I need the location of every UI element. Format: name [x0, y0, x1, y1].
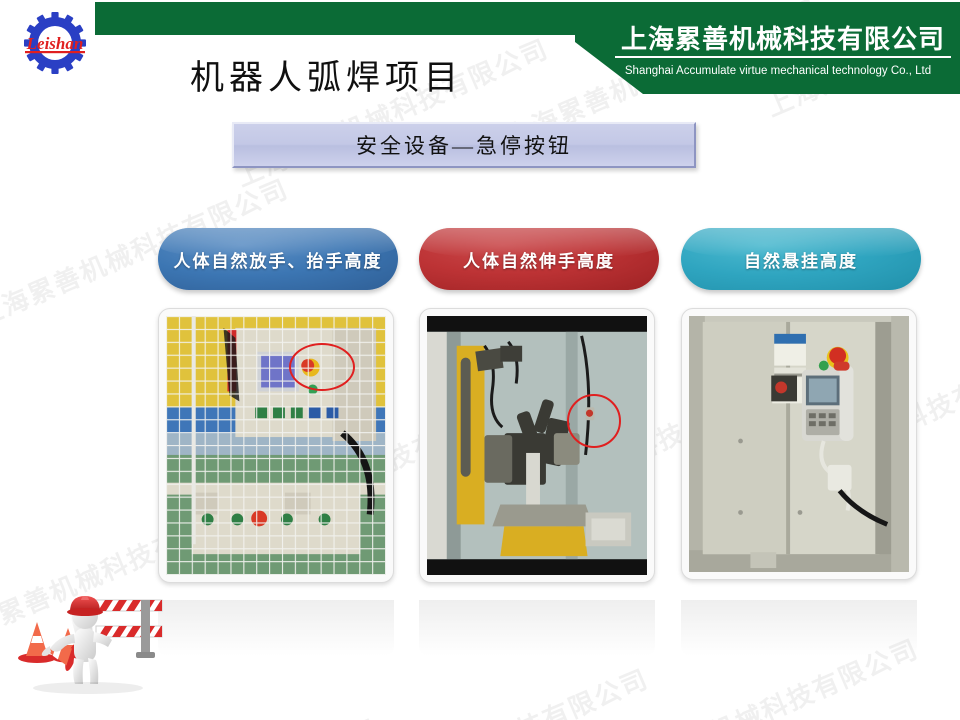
gear-logo-icon: Leishan — [14, 12, 96, 78]
watermark-text: 上海累善机械科技有限公司 — [230, 29, 554, 194]
label-pill-b-text: 人体自然伸手高度 — [463, 247, 615, 272]
content-column-b: 人体自然伸手高度 — [419, 228, 659, 583]
barrier-icon — [96, 600, 162, 658]
logo-wordmark: Leishan — [26, 34, 84, 53]
header-green-block: 上海累善机械科技有限公司 Shanghai Accumulate virtue … — [555, 2, 960, 94]
label-pill-b[interactable]: 人体自然伸手高度 — [419, 228, 659, 290]
photo-frame-b[interactable] — [419, 308, 655, 583]
photo-reflection-b — [419, 600, 655, 656]
photo-frame-c[interactable] — [681, 308, 917, 580]
watermark-text: 上海累善机械科技有限公司 — [330, 659, 654, 720]
label-pill-c-text: 自然悬挂高度 — [744, 247, 858, 272]
photo-b — [427, 316, 647, 575]
photo-frame-a[interactable] — [158, 308, 394, 583]
content-column-c: 自然悬挂高度 — [681, 228, 921, 580]
page-title: 机器人弧焊项目 — [190, 58, 463, 100]
company-name-en: Shanghai Accumulate virtue mechanical te… — [603, 64, 953, 78]
photo-a — [166, 316, 386, 575]
content-column-a: 人体自然放手、抬手高度 — [158, 228, 398, 583]
label-pill-a[interactable]: 人体自然放手、抬手高度 — [158, 228, 398, 290]
watermark-text: 上海累善机械科技有限公司 — [60, 709, 384, 720]
label-pill-a-text: 人体自然放手、抬手高度 — [174, 247, 383, 272]
logo-underline — [25, 51, 85, 53]
emergency-stop-highlight-a — [289, 343, 355, 391]
header-block-inner: 上海累善机械科技有限公司 Shanghai Accumulate virtue … — [555, 2, 960, 94]
slide-canvas: 上海累善机械科技有限公司上海累善机械科技有限公司上海累善机械科技有限公司上海累善… — [0, 0, 960, 720]
section-title-bar: 安全设备—急停按钮 — [232, 122, 696, 168]
photo-reflection-c — [681, 600, 917, 656]
safety-mascot-illustration — [8, 566, 178, 694]
emergency-stop-highlight-b — [567, 394, 621, 448]
photo-reflection-a — [158, 600, 394, 656]
company-name-cn: 上海累善机械科技有限公司 — [615, 24, 951, 58]
section-title-text: 安全设备—急停按钮 — [356, 130, 572, 160]
company-logo: Leishan — [14, 12, 96, 78]
photo-c — [689, 316, 909, 572]
label-pill-c[interactable]: 自然悬挂高度 — [681, 228, 921, 290]
